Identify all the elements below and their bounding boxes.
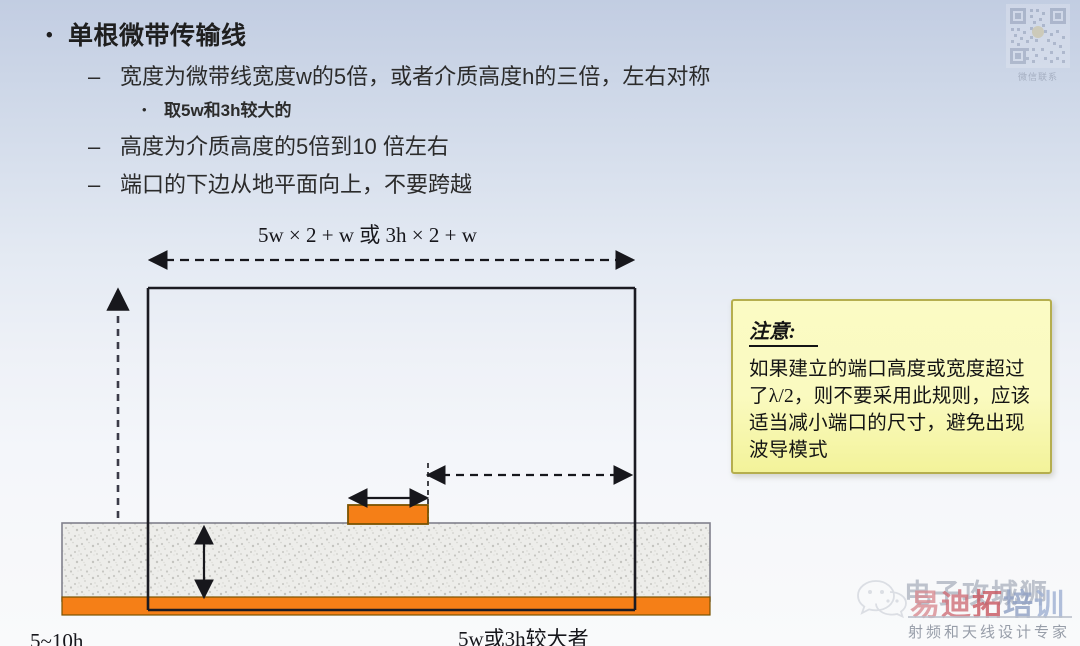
bullet-marker-level1: • (46, 25, 68, 47)
slide-heading-text: 单根微带传输线 (68, 22, 247, 50)
bullet-item-3: –高度为介质高度的5倍到10 倍左右 (88, 129, 449, 161)
wechat-bubble-icon (856, 578, 908, 623)
microstrip-trace (348, 505, 428, 524)
qr-code-icon (1006, 4, 1070, 68)
note-callout: 注意: 如果建立的端口高度或宽度超过了λ/2，则不要采用此规则，应该适当减小端口… (731, 299, 1052, 474)
bullet-marker-level2: – (88, 134, 120, 160)
brand-watermark: 电子攻城狮 易迪拓培训 射频和天线设计专家 (846, 564, 1076, 644)
bullet-item-1: –宽度为微带线宽度w的5倍，或者介质高度h的三倍，左右对称 (88, 59, 710, 91)
bullet-item-2-text: 取5w和3h较大的 (164, 101, 292, 120)
wechat-qr-watermark: 微信联系 (1002, 2, 1074, 88)
bullet-item-1-text: 宽度为微带线宽度w的5倍，或者介质高度h的三倍，左右对称 (120, 64, 710, 89)
note-title: 注意: (749, 315, 818, 347)
bullet-marker-level3: • (142, 102, 164, 117)
label-top-width: 5w × 2 + w 或 3h × 2 + w (258, 219, 477, 249)
bullet-marker-level2: – (88, 64, 120, 90)
bullet-item-2: •取5w和3h较大的 (142, 96, 292, 121)
brand-subtitle: 射频和天线设计专家 (908, 621, 1070, 642)
diagram-svg (0, 205, 740, 646)
microstrip-port-diagram: 5w × 2 + w 或 3h × 2 + w 5~10h 5w或3h较大者 w… (0, 205, 740, 646)
ground-plane (62, 597, 710, 615)
bullet-item-4-text: 端口的下边从地平面向上，不要跨越 (120, 172, 472, 197)
qr-caption: 微信联系 (1002, 70, 1074, 83)
bullet-item-3-text: 高度为介质高度的5倍到10 倍左右 (120, 134, 449, 159)
substrate-slab (62, 523, 710, 601)
slide-heading: •单根微带传输线 (46, 16, 247, 52)
brand-divider (908, 616, 1072, 618)
bullet-marker-level2: – (88, 172, 120, 198)
label-mid-offset: 5w或3h较大者 (458, 623, 589, 646)
slide-canvas: •单根微带传输线 –宽度为微带线宽度w的5倍，或者介质高度h的三倍，左右对称 •… (0, 0, 1080, 646)
note-body: 如果建立的端口高度或宽度超过了λ/2，则不要采用此规则，应该适当减小端口的尺寸，… (749, 357, 1034, 465)
bullet-item-4: –端口的下边从地平面向上，不要跨越 (88, 167, 472, 199)
label-left-height: 5~10h (30, 629, 83, 646)
